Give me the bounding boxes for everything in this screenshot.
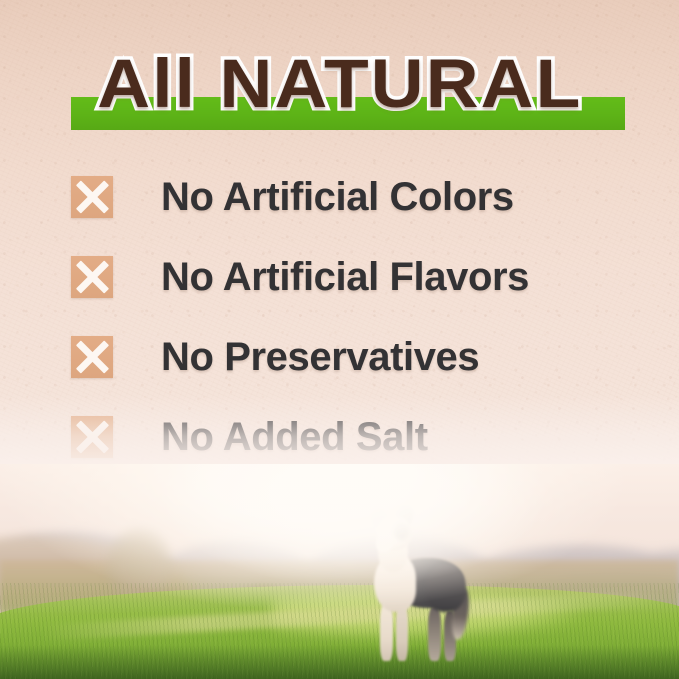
all-natural-product-poster: All NATURAL No Artificial Colors No Arti… [0, 0, 679, 679]
list-item: No Added Salt [71, 416, 641, 458]
x-mark-icon [71, 416, 113, 458]
x-mark-icon [71, 256, 113, 298]
claim-label: No Artificial Colors [161, 176, 514, 218]
claims-list: No Artificial Colors No Artificial Flavo… [71, 176, 641, 496]
list-item: No Artificial Colors [71, 176, 641, 218]
claim-label: No Added Salt [161, 416, 428, 458]
claim-label: No Preservatives [161, 336, 479, 378]
dog-illustration [352, 506, 472, 661]
dog-back-left-leg [428, 607, 441, 661]
dog-head-patch [394, 522, 409, 540]
list-item: No Preservatives [71, 336, 641, 378]
x-mark-icon [71, 176, 113, 218]
list-item: No Artificial Flavors [71, 256, 641, 298]
dog-front-right-leg [396, 605, 408, 661]
x-mark-icon [71, 336, 113, 378]
title-green-banner [71, 97, 625, 130]
landscape-photo [0, 464, 679, 679]
dog-rump [426, 564, 466, 612]
foreground-shadow [0, 645, 679, 679]
claim-label: No Artificial Flavors [161, 256, 529, 298]
